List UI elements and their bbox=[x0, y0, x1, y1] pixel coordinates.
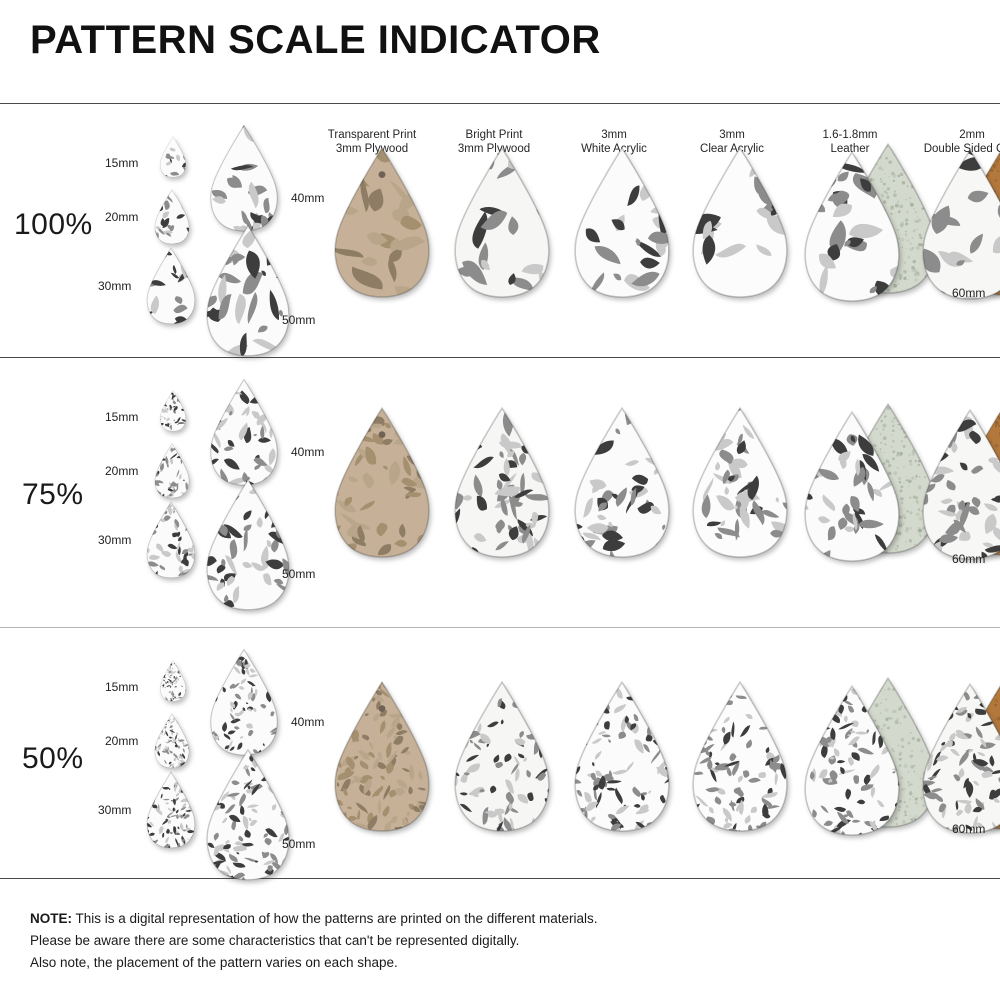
size-label-s15-row-1: 15mm bbox=[105, 410, 138, 424]
size-label-s60-row-1: 60mm bbox=[952, 552, 985, 566]
scale-percent-label-1: 75% bbox=[22, 478, 84, 512]
size-label-s50-row-0: 50mm bbox=[282, 313, 315, 327]
note-label: NOTE: bbox=[30, 911, 72, 926]
material-sample-cork-front-row-2 bbox=[915, 682, 1000, 836]
size-sample-s20-row-2 bbox=[152, 713, 192, 769]
size-label-s40-row-0: 40mm bbox=[291, 191, 324, 205]
material-sample-transparent-print-plywood-row-0 bbox=[327, 146, 437, 300]
size-sample-s20-row-1 bbox=[152, 443, 192, 499]
divider-row1-row2 bbox=[0, 357, 1000, 358]
material-sample-leather-front-row-2 bbox=[797, 684, 907, 838]
column-header-line1: 2mm bbox=[897, 128, 1000, 142]
size-sample-s50-row-1 bbox=[200, 478, 296, 612]
size-label-s60-row-2: 60mm bbox=[952, 822, 985, 836]
size-label-s50-row-2: 50mm bbox=[282, 837, 315, 851]
size-sample-s50-row-2 bbox=[200, 748, 296, 882]
material-sample-white-acrylic-row-1 bbox=[567, 406, 677, 560]
size-label-s15-row-2: 15mm bbox=[105, 680, 138, 694]
scale-percent-label-0: 100% bbox=[14, 208, 93, 242]
material-sample-cork-front-row-1 bbox=[915, 408, 1000, 562]
size-label-s30-row-1: 30mm bbox=[98, 533, 131, 547]
note-line-3: Also note, the placement of the pattern … bbox=[30, 952, 398, 974]
material-sample-bright-print-plywood-row-2 bbox=[447, 680, 557, 834]
size-sample-s30-row-0 bbox=[143, 247, 199, 325]
size-sample-s15-row-0 bbox=[158, 136, 188, 178]
size-sample-s15-row-2 bbox=[158, 660, 188, 702]
size-label-s60-row-0: 60mm bbox=[952, 286, 985, 300]
material-sample-bright-print-plywood-row-0 bbox=[447, 146, 557, 300]
page-title: PATTERN SCALE INDICATOR bbox=[30, 20, 601, 60]
material-sample-clear-acrylic-row-2 bbox=[685, 680, 795, 834]
size-sample-s40-row-1 bbox=[205, 378, 283, 487]
material-sample-bright-print-plywood-row-1 bbox=[447, 406, 557, 560]
size-sample-s50-row-0 bbox=[200, 224, 296, 358]
size-sample-s20-row-0 bbox=[152, 189, 192, 245]
divider-top bbox=[0, 103, 1000, 104]
material-sample-cork-front-row-0 bbox=[915, 148, 1000, 302]
note-text-1: This is a digital representation of how … bbox=[72, 911, 598, 926]
size-label-s40-row-2: 40mm bbox=[291, 715, 324, 729]
size-label-s30-row-0: 30mm bbox=[98, 279, 131, 293]
size-sample-s15-row-1 bbox=[158, 390, 188, 432]
size-label-s50-row-1: 50mm bbox=[282, 567, 315, 581]
size-label-s40-row-1: 40mm bbox=[291, 445, 324, 459]
size-sample-s30-row-2 bbox=[143, 771, 199, 849]
size-label-s30-row-2: 30mm bbox=[98, 803, 131, 817]
note-line-2: Please be aware there are some character… bbox=[30, 930, 519, 952]
size-sample-s40-row-0 bbox=[205, 124, 283, 233]
material-sample-transparent-print-plywood-row-2 bbox=[327, 680, 437, 834]
material-sample-clear-acrylic-row-1 bbox=[685, 406, 795, 560]
size-label-s20-row-2: 20mm bbox=[105, 734, 138, 748]
size-sample-s40-row-2 bbox=[205, 648, 283, 757]
material-sample-white-acrylic-row-0 bbox=[567, 146, 677, 300]
note-line-1: NOTE: This is a digital representation o… bbox=[30, 908, 598, 930]
material-sample-leather-front-row-1 bbox=[797, 410, 907, 564]
size-sample-s30-row-1 bbox=[143, 501, 199, 579]
material-sample-transparent-print-plywood-row-1 bbox=[327, 406, 437, 560]
size-label-s20-row-1: 20mm bbox=[105, 464, 138, 478]
size-label-s15-row-0: 15mm bbox=[105, 156, 138, 170]
size-label-s20-row-0: 20mm bbox=[105, 210, 138, 224]
material-sample-leather-front-row-0 bbox=[797, 150, 907, 304]
divider-row2-row3 bbox=[0, 627, 1000, 628]
scale-percent-label-2: 50% bbox=[22, 742, 84, 776]
material-sample-clear-acrylic-row-0 bbox=[685, 146, 795, 300]
divider-bottom bbox=[0, 878, 1000, 879]
material-sample-white-acrylic-row-2 bbox=[567, 680, 677, 834]
